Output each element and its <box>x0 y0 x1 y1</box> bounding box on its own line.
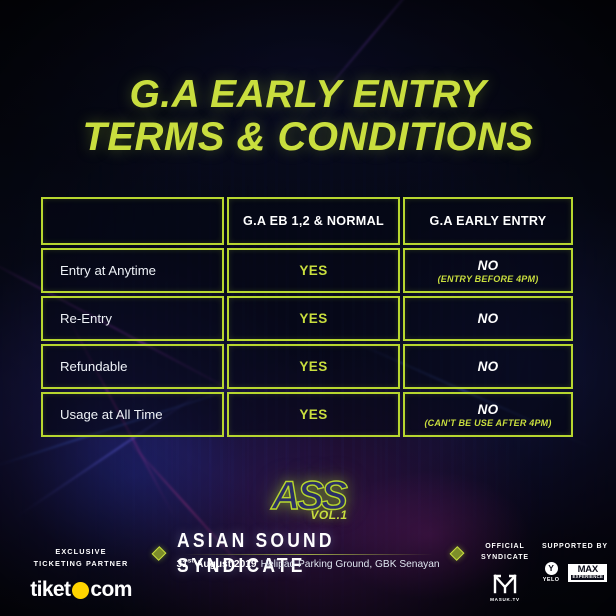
terms-comparison-table: G.A EB 1,2 & NORMAL G.A EARLY ENTRY Entr… <box>41 197 576 437</box>
yelo-mark-icon: Y <box>545 562 558 575</box>
official-caption-line1: OFFICIAL <box>481 542 529 553</box>
table-header-blank <box>41 197 224 245</box>
table-header-row: G.A EB 1,2 & NORMAL G.A EARLY ENTRY <box>41 197 576 245</box>
table-row: Entry at Anytime YES NO (ENTRY BEFORE 4P… <box>41 248 576 293</box>
masuk-m-icon <box>492 573 518 595</box>
table-row: Usage at All Time YES NO (CAN'T BE USE A… <box>41 392 576 437</box>
table-cell-label: Usage at All Time <box>41 392 224 437</box>
ticketing-caption-line1: EXCLUSIVE <box>16 546 146 557</box>
official-caption-line2: SYNDICATE <box>481 553 529 564</box>
max-experience-label: EXPERIENCE <box>571 575 604 580</box>
event-venue: Helipad Parking Ground, GBK Senayan <box>261 559 440 570</box>
event-volume-label: VOL.1 <box>310 508 347 522</box>
table-cell-normal: YES <box>227 392 400 437</box>
footer-divider <box>183 554 433 555</box>
ticketing-caption-line2: TICKETING PARTNER <box>16 558 146 569</box>
masuk-tv-logo[interactable]: MASUK.TV <box>490 573 520 602</box>
table-header-normal: G.A EB 1,2 & NORMAL <box>227 197 400 245</box>
ticketing-partner-block: EXCLUSIVE TICKETING PARTNER tiketcom <box>16 546 146 602</box>
yelo-logo[interactable]: Y YELO <box>543 562 560 583</box>
table-cell-early: NO (CAN'T BE USE AFTER 4PM) <box>403 392 573 437</box>
supported-by-caption: SUPPORTED BY <box>542 542 608 553</box>
table-cell-early: NO <box>403 344 573 389</box>
page-title: G.A EARLY ENTRY TERMS & CONDITIONS <box>0 74 616 159</box>
table-cell-label: Re-Entry <box>41 296 224 341</box>
table-cell-early: NO (ENTRY BEFORE 4PM) <box>403 248 573 293</box>
official-syndicate-logos: MASUK.TV <box>481 573 529 602</box>
official-syndicate-block: OFFICIAL SYNDICATE MASUK.TV <box>481 542 529 602</box>
event-date-venue: 31st August 2019Helipad Parking Ground, … <box>176 558 439 570</box>
supported-by-logos: Y YELO MAX EXPERIENCE <box>542 562 608 583</box>
title-line-1: G.A EARLY ENTRY <box>0 74 616 116</box>
table-cell-label: Refundable <box>41 344 224 389</box>
tiket-wordmark: tiket <box>30 578 70 602</box>
diamond-ornament-icon <box>450 546 465 561</box>
table-cell-normal: YES <box>227 296 400 341</box>
table-cell-label: Entry at Anytime <box>41 248 224 293</box>
yelo-label: YELO <box>543 577 560 583</box>
tiket-com-logo[interactable]: tiketcom <box>16 578 146 602</box>
table-cell-early: NO <box>403 296 573 341</box>
table-header-early-entry: G.A EARLY ENTRY <box>403 197 573 245</box>
poster-footer: ASS VOL.1 ASIAN SOUND SYNDICATE 31st Aug… <box>0 476 616 616</box>
sponsors-block: OFFICIAL SYNDICATE MASUK.TV SUPPORTED B <box>481 542 608 602</box>
masuk-tv-label: MASUK.TV <box>490 597 520 602</box>
table-cell-normal: YES <box>227 248 400 293</box>
ticketing-partner-caption: EXCLUSIVE TICKETING PARTNER <box>16 546 146 569</box>
tiket-dot-icon <box>72 582 89 599</box>
max-experience-logo[interactable]: MAX EXPERIENCE <box>568 564 607 582</box>
title-line-2: TERMS & CONDITIONS <box>0 116 616 159</box>
table-cell-normal: YES <box>227 344 400 389</box>
supported-by-block: SUPPORTED BY Y YELO MAX EXPERIENCE <box>542 542 608 583</box>
diamond-ornament-icon <box>152 546 167 561</box>
event-date: 31st August 2019 <box>176 559 256 570</box>
table-row: Re-Entry YES NO <box>41 296 576 341</box>
event-logo: ASS VOL.1 <box>268 476 347 522</box>
tiket-com-suffix: com <box>90 578 131 602</box>
official-syndicate-caption: OFFICIAL SYNDICATE <box>481 542 529 564</box>
poster-root: G.A EARLY ENTRY TERMS & CONDITIONS G.A E… <box>0 0 616 616</box>
supported-caption-line1: SUPPORTED BY <box>542 542 608 553</box>
table-row: Refundable YES NO <box>41 344 576 389</box>
